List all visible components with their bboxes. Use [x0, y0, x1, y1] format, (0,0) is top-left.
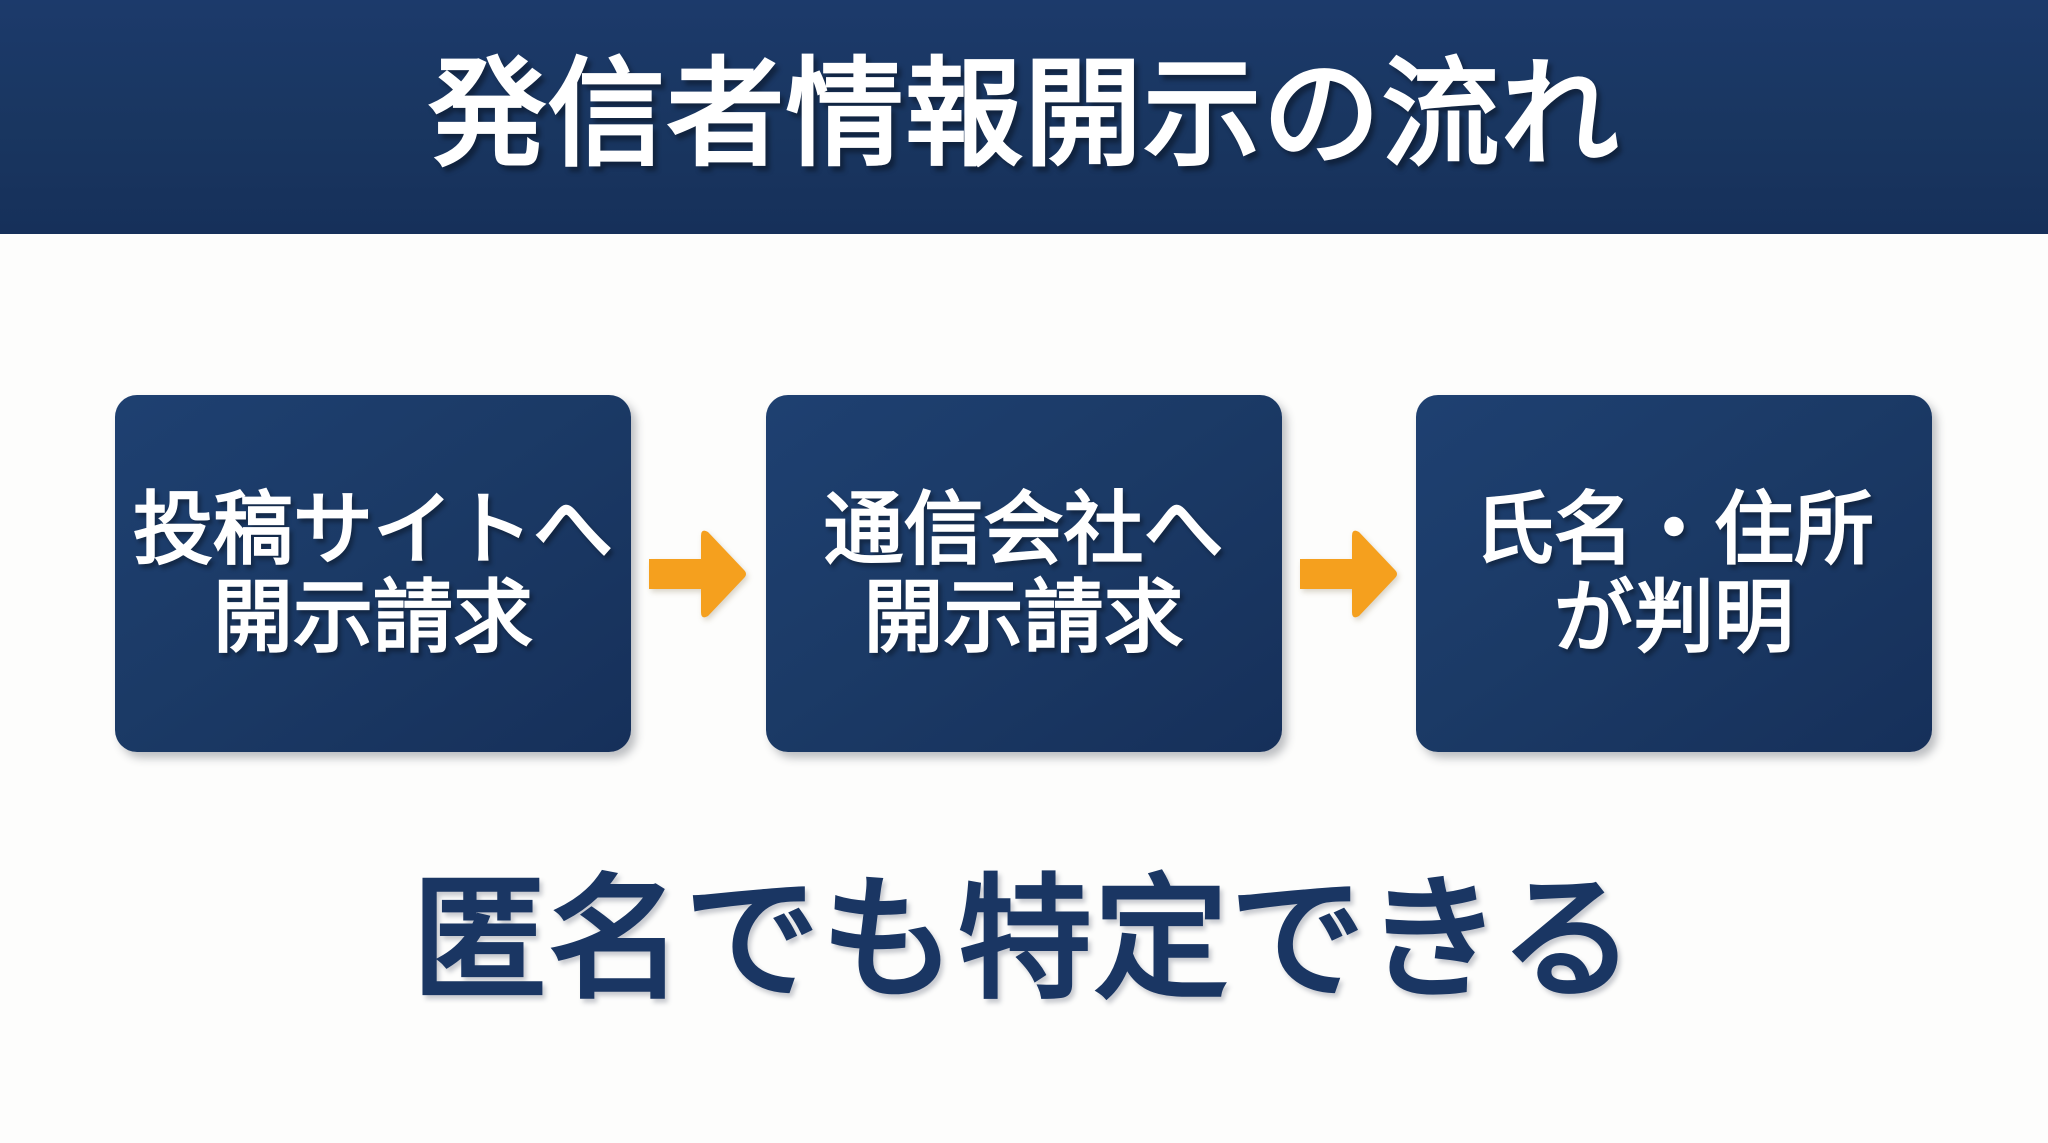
flow-step-2-line-2: 開示請求	[864, 574, 1184, 662]
flow-step-1: 投稿サイトへ 開示請求	[115, 395, 631, 752]
flow-step-2: 通信会社へ 開示請求	[766, 395, 1282, 752]
flow-step-1-line-2: 開示請求	[213, 574, 533, 662]
flow-step-1-line-1: 投稿サイトへ	[133, 486, 613, 574]
flow-connector-1	[636, 395, 761, 752]
flow-step-2-line-1: 通信会社へ	[824, 486, 1224, 574]
flow-step-3: 氏名・住所 が判明	[1416, 395, 1932, 752]
caption-block: 匿名でも特定できる	[0, 862, 2048, 1017]
page-title: 発信者情報開示の流れ	[428, 56, 1620, 174]
flow-step-3-line-2: が判明	[1554, 574, 1794, 662]
caption-text: 匿名でも特定できる	[412, 864, 1636, 1015]
flow-step-3-line-1: 氏名・住所	[1474, 486, 1874, 574]
arrow-right-icon	[649, 528, 747, 620]
title-banner: 発信者情報開示の流れ	[0, 0, 2048, 234]
flow-diagram: 投稿サイトへ 開示請求 通信会社へ 開示請求 氏名・住所 が判明	[115, 395, 1932, 752]
flow-connector-2	[1286, 395, 1411, 752]
arrow-right-icon	[1300, 528, 1398, 620]
